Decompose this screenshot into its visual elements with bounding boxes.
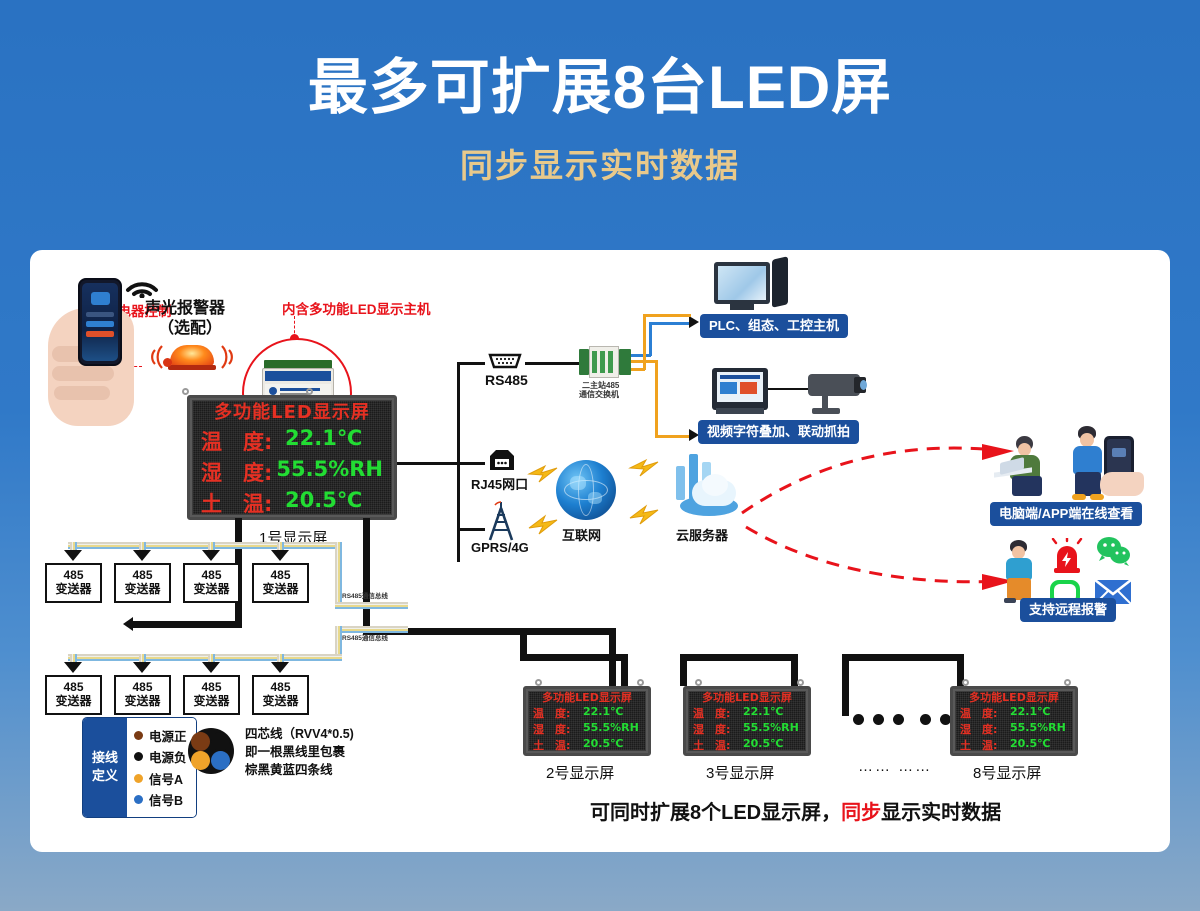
cloud-to-users-dashed-arrows [736, 435, 1026, 595]
switch-out-top-v [649, 322, 652, 356]
alarm-user-illustration [998, 540, 1042, 606]
transmitter-3-line2: 变送器 [193, 583, 229, 597]
lightning-bolt-icon-2 [527, 512, 559, 536]
bus-label-top: RS485通信总线 [342, 590, 388, 600]
cloud-server-icon [670, 452, 742, 524]
sub-screen-2-row-2-label: 土 温: [533, 737, 583, 753]
alarm-siren-red-icon [1050, 538, 1084, 574]
transmitter-7-line1: 485 [201, 681, 221, 695]
bottom-note-highlight: 同步 [841, 802, 881, 824]
sub-screen-2-row-0-label: 温 度: [533, 705, 583, 721]
sub-screen-3-hook-left [695, 679, 702, 686]
transmitter-2: 485 变送器 [114, 563, 171, 603]
sub-screen-8-row-1-label: 湿 度: [960, 721, 1010, 737]
pc-user-illustration [992, 436, 1066, 498]
legend-item-signal-b: 信号B [134, 790, 187, 809]
sub-screen-2-row-1-label: 湿 度: [533, 721, 583, 737]
legend-dot-signal-a [134, 774, 143, 783]
sub-screen-8-row-0-value: 22.1℃ [1010, 705, 1050, 721]
sub-screen-2-row-0-value: 22.1℃ [583, 705, 623, 721]
rs485-branch-line [457, 362, 485, 365]
transmitter-3: 485 变送器 [183, 563, 240, 603]
main-screen-hook-left [182, 388, 189, 395]
bus-row1-down [335, 542, 342, 608]
internet-globe-icon [556, 460, 616, 520]
sub-led-screen-3: 多功能LED显示屏 温 度: 22.1℃ 湿 度: 55.5%RH 土 温: 2… [683, 686, 811, 756]
transmitter-6-line1: 485 [132, 681, 152, 695]
cable-description: 四芯线（RVV4*0.5) 即一根黑线里包裹 棕黑黄蓝四条线 [245, 725, 354, 779]
transmitter-3-line1: 485 [201, 569, 221, 583]
transmitter-6: 485 变送器 [114, 675, 171, 715]
sub-screen-8-title: 多功能LED显示屏 [960, 689, 1068, 705]
transmitter-4-line1: 485 [270, 569, 290, 583]
sub-screen-8-row-2-label: 土 温: [960, 737, 1010, 753]
legend-label-signal-b: 信号B [149, 790, 183, 809]
main-screen-row-0-value: 22.1℃ [285, 426, 362, 456]
sub-screen-3-hook-right [797, 679, 804, 686]
legend-label-power-positive: 电源正 [149, 726, 187, 745]
diagram-card: 继电器控制 声光报警器 （选配） 内含多功能LED显示主机 [30, 250, 1170, 852]
lightning-bolt-icon-1 [527, 462, 559, 486]
transmitter-1: 485 变送器 [45, 563, 102, 603]
sub-screen-8-hook-left [962, 679, 969, 686]
ellipsis-dot-2 [873, 714, 884, 725]
transmitter-5-line1: 485 [63, 681, 83, 695]
switch-label-line2: 通信交换机 [579, 389, 619, 400]
switch-out-top-h2 [649, 322, 691, 325]
sub-drop-mid2 [842, 654, 849, 716]
transmitter-8-line2: 变送器 [262, 695, 298, 709]
alarm-option-label: （选配） [158, 314, 222, 338]
plc-arrow [689, 316, 699, 328]
main-screen-row-1-label: 湿 度: [201, 457, 276, 487]
tx-arrow-3 [202, 550, 220, 561]
rj45-branch-line [457, 462, 485, 465]
sub-screen-2-caption: 2号显示屏 [546, 762, 614, 783]
bus-row2-horizontal [68, 654, 342, 661]
rj45-port-icon [486, 448, 518, 474]
lightning-bolt-icon-3 [628, 456, 660, 480]
sub-screen-8-row-0-label: 温 度: [960, 705, 1010, 721]
switch-out-mid-v [643, 314, 646, 370]
sub-screen-3-row-1-label: 湿 度: [693, 721, 743, 737]
transmitter-4-line2: 变送器 [262, 583, 298, 597]
switch-out-mid-h2 [643, 314, 691, 317]
rj45-port-label: RJ45网口 [471, 474, 528, 493]
main-screen-bus-link-h [133, 621, 238, 628]
lightning-bolt-icon-4 [628, 502, 660, 526]
sub-screen-2-hook-left [535, 679, 542, 686]
wechat-icon [1096, 536, 1130, 566]
tx-arrow-2 [133, 550, 151, 561]
sub-branch-3 [842, 654, 964, 661]
sub-screen-3-row-0-value: 22.1℃ [743, 705, 783, 721]
badge-remote-alarm: 支持远程报警 [1020, 598, 1116, 622]
tx-arrow-6 [133, 662, 151, 673]
main-screen-row-2-value: 20.5℃ [285, 488, 362, 518]
transmitter-1-line1: 485 [63, 569, 83, 583]
callout-controller-label: 内含多功能LED显示主机 [282, 298, 431, 318]
bottom-note-part2: 显示实时数据 [881, 802, 1001, 824]
wiring-legend-title-line2: 定义 [92, 767, 118, 785]
sub-screen-3-row-2-label: 土 温: [693, 737, 743, 753]
sub-led-screen-2: 多功能LED显示屏 温 度: 22.1℃ 湿 度: 55.5%RH 土 温: 2… [523, 686, 651, 756]
transmitter-1-line2: 变送器 [55, 583, 91, 597]
main-screen-hook-right [306, 388, 313, 395]
sub-screen-3-row-1-value: 55.5%RH [743, 721, 799, 737]
sub-screen-2-title: 多功能LED显示屏 [533, 689, 641, 705]
internet-label: 互联网 [562, 525, 601, 544]
main-screen-bus-arrow [123, 617, 133, 631]
ellipsis-dot-3 [893, 714, 904, 725]
tx-arrow-7 [202, 662, 220, 673]
sub-screen-8-hook-right [1064, 679, 1071, 686]
bus-row1-horizontal [68, 542, 342, 549]
sub-drop-2 [621, 654, 628, 686]
gprs-branch-line [457, 528, 485, 531]
legend-label-power-negative: 电源负 [149, 747, 187, 766]
legend-dot-signal-b [134, 795, 143, 804]
bus-label-bottom: RS485通信总线 [342, 632, 388, 642]
transmitter-5: 485 变送器 [45, 675, 102, 715]
tx-arrow-4 [271, 550, 289, 561]
main-screen-right-pole [363, 518, 370, 632]
legend-item-power-positive: 电源正 [134, 726, 187, 745]
transmitter-8: 485 变送器 [252, 675, 309, 715]
tx-arrow-5 [64, 662, 82, 673]
legend-dot-power-positive [134, 731, 143, 740]
legend-item-power-negative: 电源负 [134, 747, 187, 766]
sub-drop-1b [609, 628, 616, 686]
ellipsis-caption: …… …… [858, 758, 932, 775]
rs485-to-switch-line [525, 362, 579, 365]
transmitter-5-line2: 变送器 [55, 695, 91, 709]
transmitter-4: 485 变送器 [252, 563, 309, 603]
cable-cross-section-icon [188, 728, 234, 774]
badge-plc: PLC、组态、工控主机 [700, 314, 848, 338]
ellipsis-dot-4 [920, 714, 931, 725]
sub-led-screen-8: 多功能LED显示屏 温 度: 22.1℃ 湿 度: 55.5%RH 土 温: 2… [950, 686, 1078, 756]
page-header: 最多可扩展8台LED屏 同步显示实时数据 [0, 0, 1200, 250]
main-screen-title: 多功能LED显示屏 [201, 398, 383, 424]
sub-screen-3-row-2-value: 20.5℃ [743, 737, 783, 753]
wiring-legend-title-line1: 接线 [92, 749, 118, 767]
sub-screen-8-caption: 8号显示屏 [973, 762, 1041, 783]
switch-out-top-h1 [631, 354, 651, 357]
wiring-legend-items: 电源正 电源负 信号A 信号B [127, 718, 196, 817]
bottom-note: 可同时扩展8个LED显示屏，同步显示实时数据 [590, 796, 1001, 825]
transmitter-8-line1: 485 [270, 681, 290, 695]
sub-screen-3-title: 多功能LED显示屏 [693, 689, 801, 705]
phone-in-hand-illustration [1100, 436, 1150, 498]
badge-online-view: 电脑端/APP端在线查看 [990, 502, 1142, 526]
sub-screen-2-hook-right [637, 679, 644, 686]
switch-out-bot-h2 [655, 435, 691, 438]
ellipsis-dot-1 [853, 714, 864, 725]
switch-out-bot-v [655, 360, 658, 438]
sub-screen-3-row-0-label: 温 度: [693, 705, 743, 721]
legend-dot-power-negative [134, 752, 143, 761]
cable-desc-line3: 棕黑黄蓝四条线 [245, 761, 354, 779]
legend-item-signal-a: 信号A [134, 769, 187, 788]
transmitter-7-line2: 变送器 [193, 695, 229, 709]
main-led-screen: 多功能LED显示屏 温 度: 22.1℃ 湿 度: 55.5%RH 土 温: 2… [187, 395, 397, 520]
tx-arrow-8 [271, 662, 289, 673]
transmitter-6-line2: 变送器 [124, 695, 160, 709]
legend-label-signal-a: 信号A [149, 769, 183, 788]
gprs-tower-icon [482, 500, 520, 542]
main-screen-row-0-label: 温 度: [201, 426, 285, 456]
wiring-legend: 接线 定义 电源正 电源负 信号A 信号B [82, 717, 197, 818]
cable-desc-line1: 四芯线（RVV4*0.5) [245, 725, 354, 743]
wiring-legend-title: 接线 定义 [83, 718, 127, 817]
sub-branch-2 [680, 654, 798, 661]
page-subtitle: 同步显示实时数据 [0, 139, 1200, 187]
cloud-server-label: 云服务器 [676, 525, 728, 544]
rs485-connector-icon [486, 351, 524, 371]
transmitter-2-line2: 变送器 [124, 583, 160, 597]
sub-screen-2-row-2-value: 20.5℃ [583, 737, 623, 753]
tx-arrow-1 [64, 550, 82, 561]
sub-screen-3-caption: 3号显示屏 [706, 762, 774, 783]
bus-row1-to-trunk [335, 602, 408, 609]
page-title: 最多可扩展8台LED屏 [0, 0, 1200, 119]
rs485-port-label: RS485 [485, 372, 528, 388]
bottom-note-part1: 可同时扩展8个LED显示屏， [590, 802, 841, 824]
transmitter-7: 485 变送器 [183, 675, 240, 715]
main-screen-row-1-value: 55.5%RH [276, 457, 383, 487]
transmitter-2-line1: 485 [132, 569, 152, 583]
sub-screen-8-row-2-value: 20.5℃ [1010, 737, 1050, 753]
cable-desc-line2: 即一根黑线里包裹 [245, 743, 354, 761]
rs485-switch-icon [579, 346, 631, 378]
sub-screen-8-row-1-value: 55.5%RH [1010, 721, 1066, 737]
main-screen-row-2-label: 土 温: [201, 488, 285, 518]
screen-to-ports-line [397, 462, 459, 465]
sub-screen-2-row-1-value: 55.5%RH [583, 721, 639, 737]
gprs-port-label: GPRS/4G [471, 540, 529, 555]
recorder-camera-link [768, 388, 808, 390]
